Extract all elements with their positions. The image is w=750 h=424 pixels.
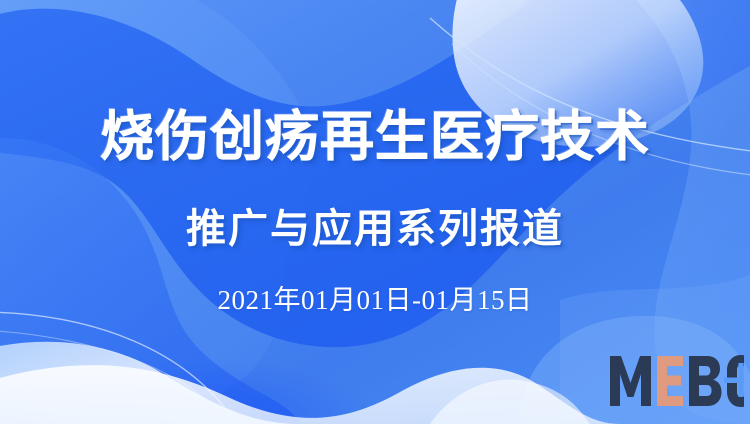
logo-cross-vertical	[738, 363, 743, 397]
banner-content: 烧伤创疡再生医疗技术 推广与应用系列报道 2021年01月01日-01月15日	[0, 0, 750, 424]
mebo-logo-mark	[608, 352, 744, 410]
logo-letter-o	[724, 355, 744, 407]
logo-letter-b	[689, 356, 722, 406]
page-title: 烧伤创疡再生医疗技术	[0, 104, 750, 170]
date-range-label: 2021年01月01日-01月15日	[0, 283, 750, 317]
logo-letter-m	[610, 356, 651, 406]
logo-letter-e	[657, 356, 683, 406]
mebo-logo	[608, 352, 744, 410]
promo-banner: 烧伤创疡再生医疗技术 推广与应用系列报道 2021年01月01日-01月15日	[0, 0, 750, 424]
page-subtitle: 推广与应用系列报道	[0, 203, 750, 255]
